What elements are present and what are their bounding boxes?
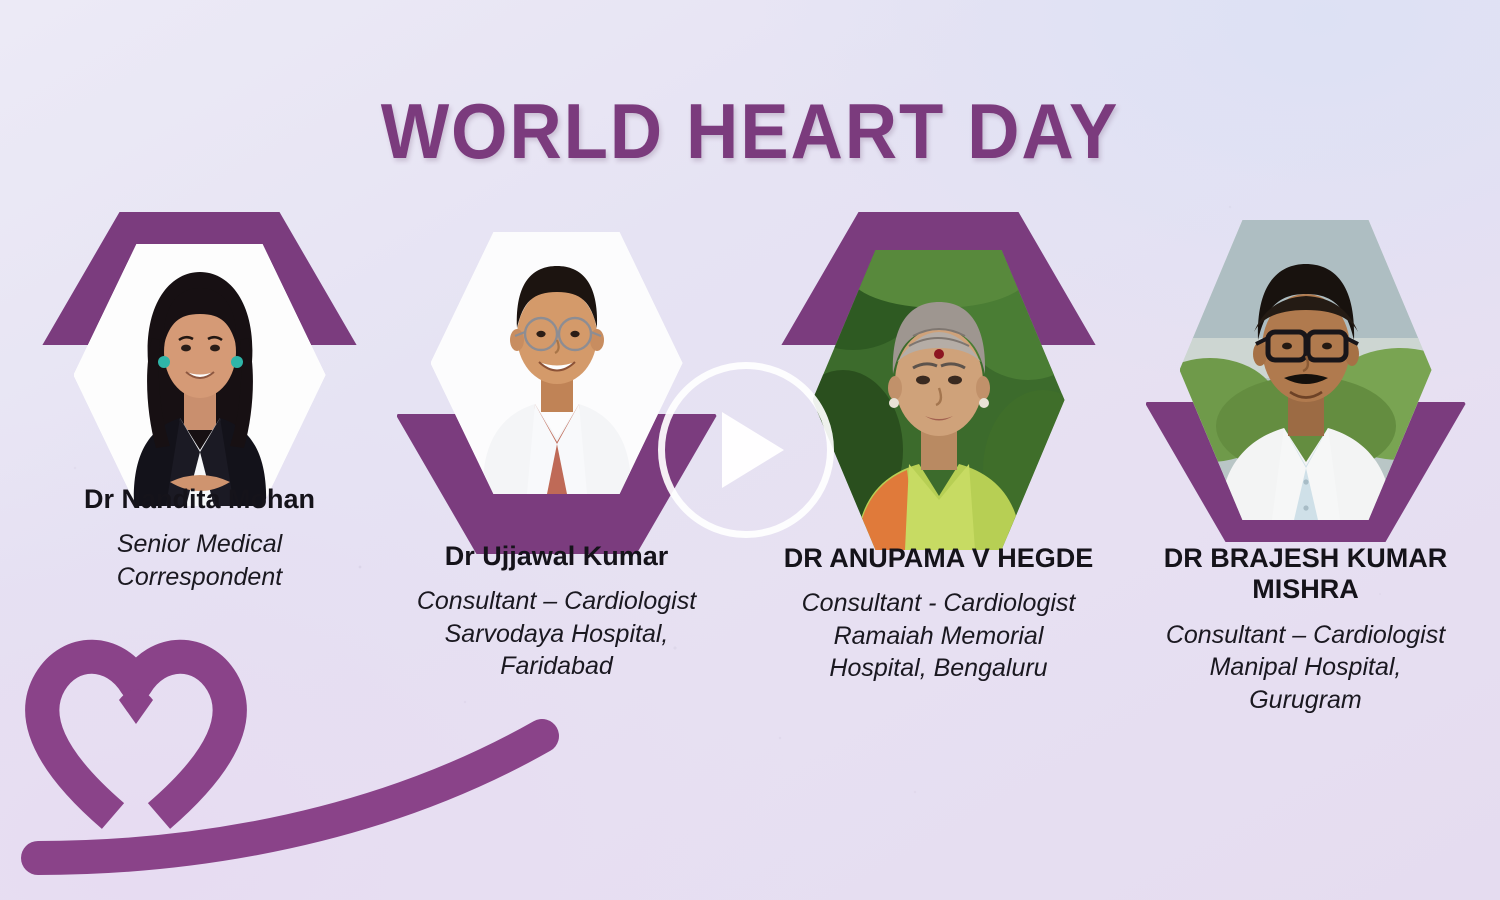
role-line: Consultant – Cardiologist	[1118, 619, 1493, 652]
role-line: Correspondent	[12, 561, 387, 594]
panelist-hexagon-frame-4	[1118, 206, 1493, 556]
panelist-caption-1: Dr Nandita Mohan Senior Medical Correspo…	[12, 484, 387, 593]
video-play-button[interactable]	[658, 362, 834, 538]
role-line: Senior Medical	[12, 528, 387, 561]
world-heart-day-heart-ribbon-logo	[18, 608, 578, 878]
panelist-role-1: Senior Medical Correspondent	[12, 528, 387, 593]
role-line: Ramaiah Memorial	[751, 620, 1126, 653]
role-line: Consultant - Cardiologist	[751, 587, 1126, 620]
play-triangle-icon	[722, 412, 784, 488]
panelist-card-4: DR BRAJESH KUMAR MISHRA Consultant – Car…	[1118, 0, 1493, 900]
panelist-name-4: DR BRAJESH KUMAR MISHRA	[1118, 543, 1493, 606]
panelist-name-3: DR ANUPAMA V HEGDE	[751, 543, 1126, 574]
panelist-name-1: Dr Nandita Mohan	[12, 484, 387, 515]
role-line: Hospital, Bengaluru	[751, 652, 1126, 685]
panelist-caption-3: DR ANUPAMA V HEGDE Consultant - Cardiolo…	[751, 543, 1126, 685]
panelist-role-3: Consultant - Cardiologist Ramaiah Memori…	[751, 587, 1126, 685]
panelist-name-2: Dr Ujjawal Kumar	[369, 541, 744, 572]
role-line: Gurugram	[1118, 684, 1493, 717]
panelist-caption-4: DR BRAJESH KUMAR MISHRA Consultant – Car…	[1118, 543, 1493, 716]
role-line: Manipal Hospital,	[1118, 651, 1493, 684]
panelist-role-4: Consultant – Cardiologist Manipal Hospit…	[1118, 619, 1493, 717]
world-heart-day-video-slide: WORLD HEART DAY	[0, 0, 1500, 900]
heart-ribbon-svg	[18, 608, 578, 878]
